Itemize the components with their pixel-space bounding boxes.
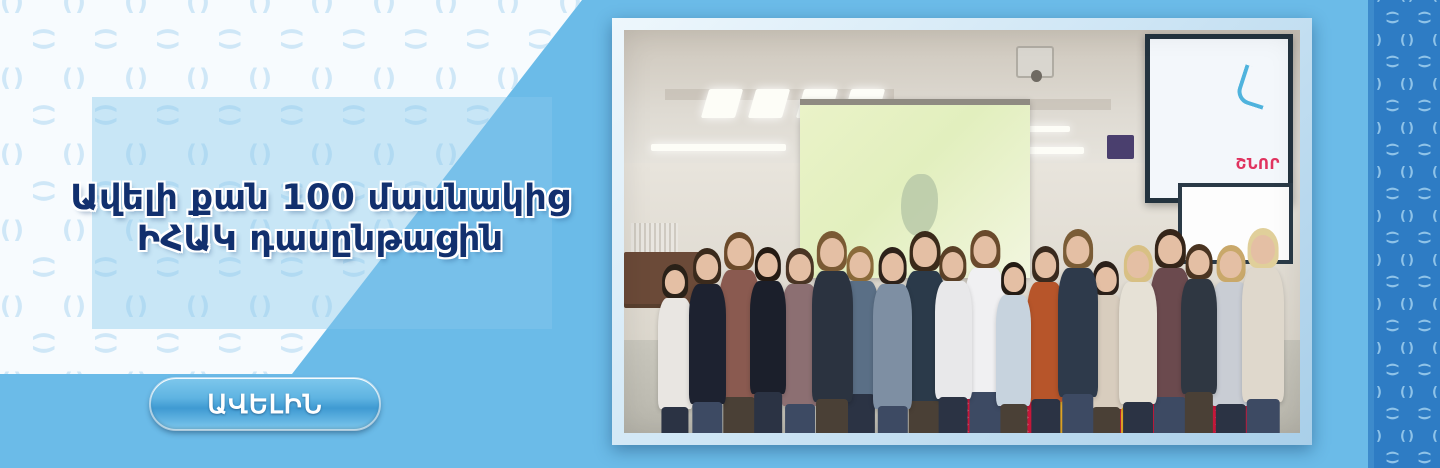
person-legs	[1154, 397, 1186, 433]
person-legs	[693, 402, 722, 433]
headline-line-2: ԻՀԱԿ դասընթացին	[40, 219, 600, 260]
person-head	[1159, 235, 1183, 264]
person-legs	[785, 404, 815, 433]
headline-line-1: Ավելի քան 100 մասնակից	[70, 178, 569, 218]
person-legs	[754, 392, 782, 433]
right-pattern-strip: ()()()()()()()()()()()()()()()()()()()()…	[1368, 0, 1440, 468]
person-legs	[1092, 407, 1120, 433]
person	[750, 281, 786, 394]
person-head	[942, 252, 963, 278]
wall-speaker	[1107, 135, 1134, 159]
page-title: Ավելի քան 100 մասնակից ԻՀԱԿ դասընթացին	[40, 178, 600, 261]
person-head	[665, 270, 685, 294]
person-legs	[1031, 399, 1060, 433]
person-head	[881, 253, 904, 280]
wall-display: ՇՆՈՐ	[1145, 34, 1294, 203]
person-head	[1003, 267, 1023, 291]
person-head	[1066, 236, 1089, 264]
person-legs	[877, 406, 907, 433]
ceiling-light	[748, 89, 790, 118]
slide-accent-icon	[1234, 64, 1274, 109]
person	[935, 281, 972, 399]
ceiling-light	[651, 144, 786, 151]
person	[658, 298, 693, 409]
bracket-pattern-icon: ()()()()()()()()()()()()()()()()()()()()…	[1368, 0, 1440, 468]
promo-banner: ()()()()()()()()()()()()()()()()()()()()…	[0, 0, 1440, 468]
person	[812, 271, 853, 402]
slide-text: ՇՆՈՐ	[1236, 155, 1280, 173]
person-head	[913, 237, 937, 266]
person	[689, 284, 727, 404]
person-head	[1220, 251, 1243, 278]
person-head	[1096, 267, 1117, 292]
person-head	[1251, 235, 1275, 264]
person	[1242, 268, 1284, 401]
person-legs	[1185, 392, 1213, 433]
person-head	[789, 254, 811, 281]
person-legs	[1123, 402, 1153, 433]
more-button[interactable]: ԱՎԵԼԻՆ	[150, 378, 380, 430]
person-legs	[662, 407, 689, 433]
person-legs	[908, 401, 941, 433]
slide-graphic	[901, 174, 938, 236]
strip-edge	[1368, 0, 1374, 468]
person-head	[820, 238, 844, 267]
person-head	[1127, 251, 1149, 278]
ceiling-light	[701, 89, 743, 118]
person-head	[696, 254, 718, 280]
person-legs	[1216, 404, 1246, 433]
person-head	[1188, 250, 1209, 275]
person-legs	[939, 397, 968, 433]
person-legs	[1062, 394, 1093, 433]
person-legs	[724, 397, 755, 433]
person-legs	[1247, 399, 1280, 433]
person-legs	[816, 399, 848, 433]
person-head	[758, 253, 779, 278]
person	[873, 284, 912, 408]
person-legs	[1000, 404, 1027, 433]
person	[1181, 279, 1217, 395]
conference-room-photo: ՇՆՈՐ	[624, 30, 1300, 433]
person-head	[728, 238, 751, 266]
person-head	[1035, 252, 1057, 278]
photo-card: ՇՆՈՐ	[612, 18, 1312, 445]
person-head	[850, 252, 871, 277]
person	[1058, 268, 1098, 397]
person	[996, 295, 1031, 406]
person	[1119, 282, 1157, 404]
person-head	[974, 236, 997, 264]
